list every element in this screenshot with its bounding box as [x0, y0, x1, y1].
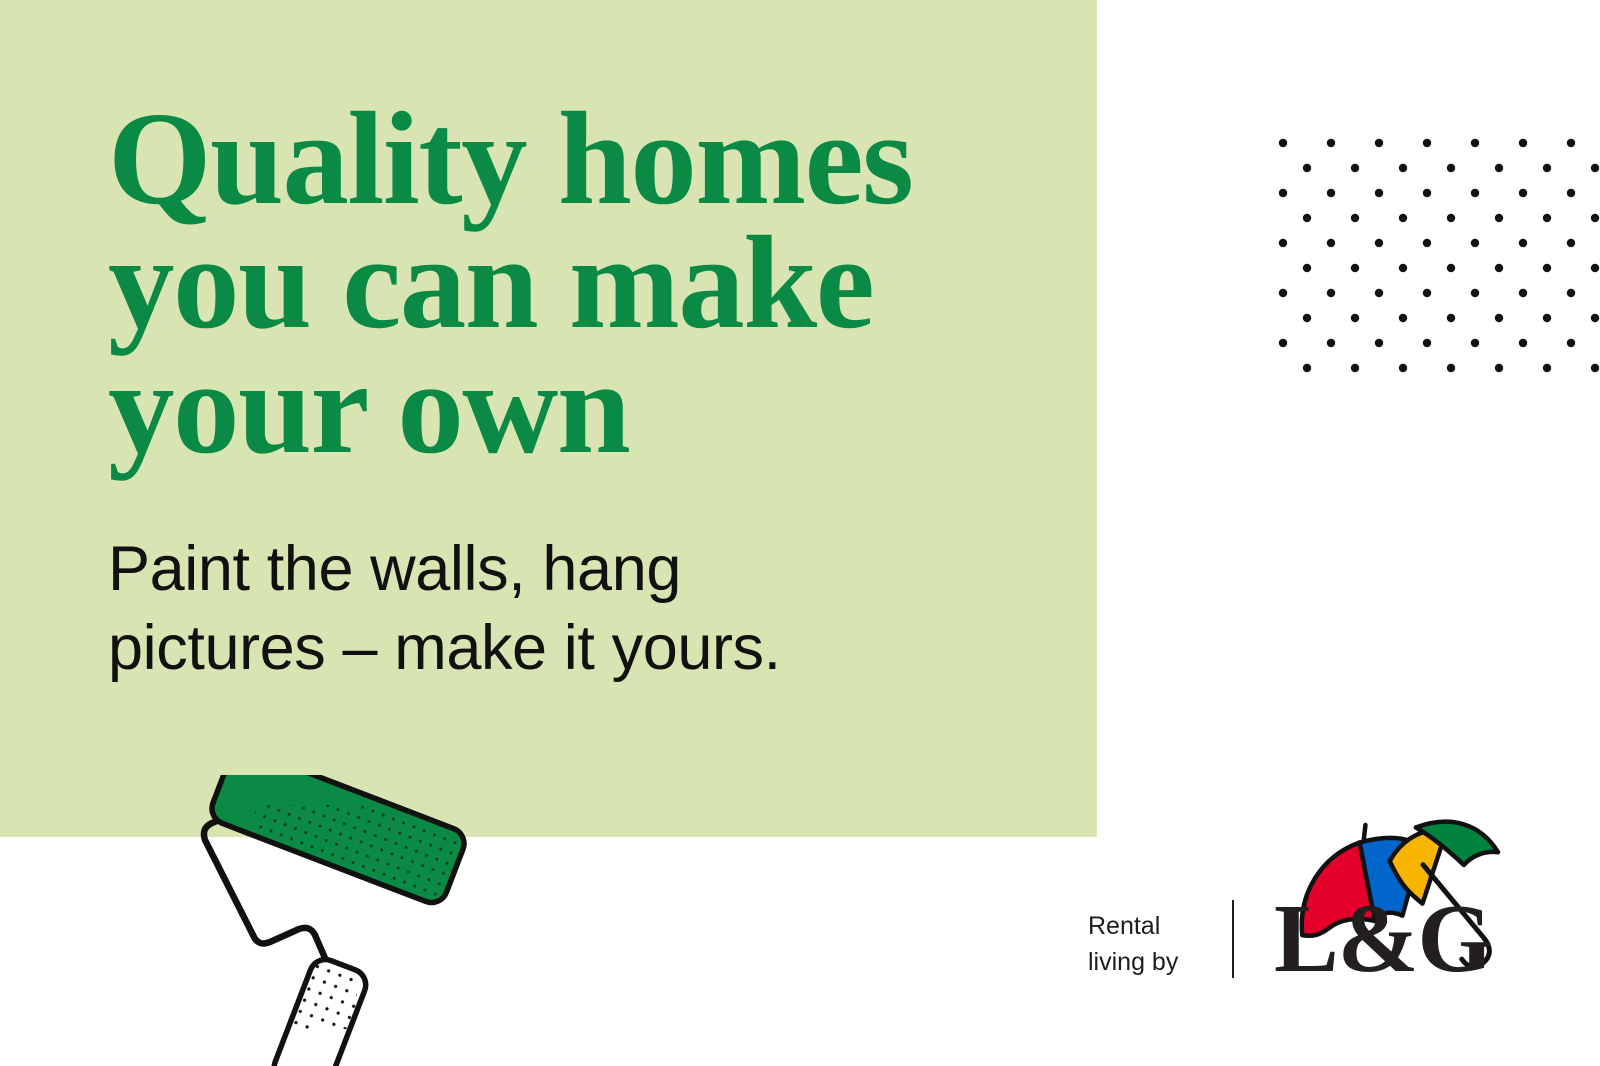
pattern-dot	[1327, 189, 1335, 197]
pattern-dot	[1567, 189, 1575, 197]
pattern-dot	[1471, 289, 1479, 297]
pattern-dot	[1471, 139, 1479, 147]
lg-wordmark: L&G	[1274, 890, 1492, 987]
pattern-dot	[1351, 264, 1359, 272]
pattern-dot	[1591, 164, 1599, 172]
pattern-dot	[1399, 164, 1407, 172]
pattern-dot	[1423, 289, 1431, 297]
pattern-dot	[1519, 339, 1527, 347]
pattern-dot	[1495, 364, 1503, 372]
paint-roller-illustration	[195, 775, 525, 1066]
pattern-dot	[1543, 164, 1551, 172]
marketing-banner: Quality homes you can make your own Pain…	[0, 0, 1600, 1066]
pattern-dot	[1567, 339, 1575, 347]
pattern-dot	[1447, 164, 1455, 172]
pattern-dot	[1495, 214, 1503, 222]
pattern-dot	[1447, 364, 1455, 372]
pattern-dot	[1327, 339, 1335, 347]
logo-kicker-text: Rental living by	[1088, 908, 1218, 980]
pattern-dot	[1567, 239, 1575, 247]
pattern-dot	[1447, 214, 1455, 222]
pattern-dot	[1327, 289, 1335, 297]
pattern-dot	[1495, 264, 1503, 272]
pattern-dot	[1279, 239, 1287, 247]
pattern-dot	[1279, 189, 1287, 197]
pattern-dot	[1375, 239, 1383, 247]
dot-grid-svg	[1270, 132, 1600, 377]
pattern-dot	[1375, 289, 1383, 297]
pattern-dot	[1471, 239, 1479, 247]
pattern-dot	[1591, 314, 1599, 322]
roller-barrel	[207, 775, 485, 935]
pattern-dot	[1591, 364, 1599, 372]
pattern-dot	[1375, 339, 1383, 347]
pattern-dot	[1351, 314, 1359, 322]
pattern-dot	[1471, 339, 1479, 347]
pattern-dot	[1495, 164, 1503, 172]
pattern-dot	[1423, 139, 1431, 147]
pattern-dot	[1375, 139, 1383, 147]
pattern-dot	[1519, 239, 1527, 247]
pattern-dot	[1543, 364, 1551, 372]
pattern-dot	[1399, 264, 1407, 272]
pattern-dot	[1543, 264, 1551, 272]
pattern-dot	[1423, 189, 1431, 197]
pattern-dot	[1303, 264, 1311, 272]
pattern-dot	[1567, 139, 1575, 147]
pattern-dot	[1519, 289, 1527, 297]
pattern-dot	[1519, 189, 1527, 197]
pattern-dot	[1399, 314, 1407, 322]
roller-grip	[270, 955, 371, 1066]
pattern-dot	[1303, 164, 1311, 172]
pattern-dot	[1543, 314, 1551, 322]
pattern-dot	[1543, 214, 1551, 222]
paint-roller-svg	[195, 775, 525, 1066]
pattern-dot	[1423, 239, 1431, 247]
logo-lockup: Rental living by L&G	[1088, 898, 1508, 1008]
page-title: Quality homes you can make your own	[108, 96, 1038, 469]
subheading-text: Paint the walls, hang pictures – make it…	[108, 530, 988, 689]
pattern-dot	[1327, 139, 1335, 147]
pattern-dot	[1279, 289, 1287, 297]
pattern-dot	[1471, 189, 1479, 197]
pattern-dot	[1567, 289, 1575, 297]
pattern-dot	[1447, 264, 1455, 272]
pattern-dot	[1303, 314, 1311, 322]
pattern-dot	[1447, 314, 1455, 322]
pattern-dot	[1351, 364, 1359, 372]
pattern-dot	[1495, 314, 1503, 322]
pattern-dot	[1591, 264, 1599, 272]
pattern-dot	[1351, 214, 1359, 222]
pattern-dot	[1399, 214, 1407, 222]
pattern-dot	[1375, 189, 1383, 197]
pattern-dot	[1303, 364, 1311, 372]
logo-divider	[1232, 900, 1234, 978]
pattern-dot	[1423, 339, 1431, 347]
pattern-dot	[1279, 339, 1287, 347]
dot-grid-pattern	[1270, 132, 1600, 377]
pattern-dot	[1399, 364, 1407, 372]
pattern-dot	[1327, 239, 1335, 247]
pattern-dot	[1279, 139, 1287, 147]
pattern-dot	[1591, 214, 1599, 222]
pattern-dot	[1351, 164, 1359, 172]
pattern-dot	[1519, 139, 1527, 147]
pattern-dot	[1303, 214, 1311, 222]
